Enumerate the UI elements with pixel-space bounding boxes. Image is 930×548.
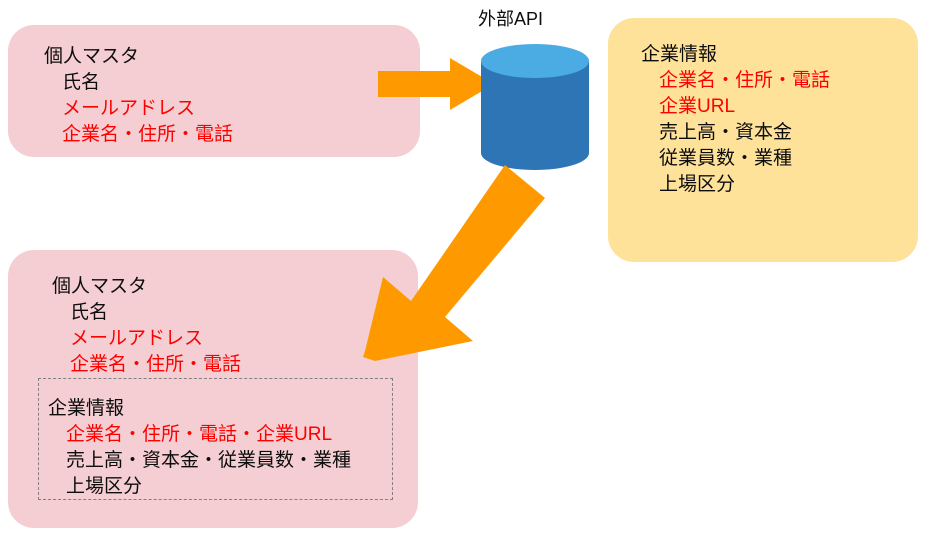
api-response-field-company-url: 企業URL [641,94,830,120]
source-box-title: 個人マスタ [44,44,233,70]
external-api-label: 外部API [478,8,543,30]
api-response-field-company-address-phone: 企業名・住所・電話 [641,68,830,94]
nested-field-sales-capital-employees-industry: 売上高・資本金・従業員数・業種 [48,448,351,474]
merge-arrow [355,165,545,405]
external-api-cylinder-icon [481,44,589,170]
result-field-email: メールアドレス [52,326,241,352]
api-response-title: 企業情報 [641,42,830,68]
api-response-text: 企業情報 企業名・住所・電話 企業URL 売上高・資本金 従業員数・業種 上場区… [641,42,830,198]
api-response-field-sales-capital: 売上高・資本金 [641,120,830,146]
result-field-name: 氏名 [52,300,241,326]
nested-field-company-address-phone-url: 企業名・住所・電話・企業URL [48,422,351,448]
api-response-field-employees-industry: 従業員数・業種 [641,146,830,172]
diagram-canvas: 個人マスタ 氏名 メールアドレス 企業名・住所・電話 外部API 企業情報 企業… [0,0,930,548]
nested-field-listing-class: 上場区分 [48,474,351,500]
source-field-name: 氏名 [44,70,233,96]
request-arrow [378,58,494,110]
source-field-email: メールアドレス [44,96,233,122]
nested-group-title: 企業情報 [48,396,351,422]
result-box-title: 個人マスタ [52,274,241,300]
nested-company-info-text: 企業情報 企業名・住所・電話・企業URL 売上高・資本金・従業員数・業種 上場区… [48,396,351,500]
result-person-master-text: 個人マスタ 氏名 メールアドレス 企業名・住所・電話 [52,274,241,378]
api-response-field-listing-class: 上場区分 [641,172,830,198]
result-field-company-address-phone: 企業名・住所・電話 [52,352,241,378]
source-field-company-address-phone: 企業名・住所・電話 [44,122,233,148]
source-person-master-text: 個人マスタ 氏名 メールアドレス 企業名・住所・電話 [44,44,233,148]
